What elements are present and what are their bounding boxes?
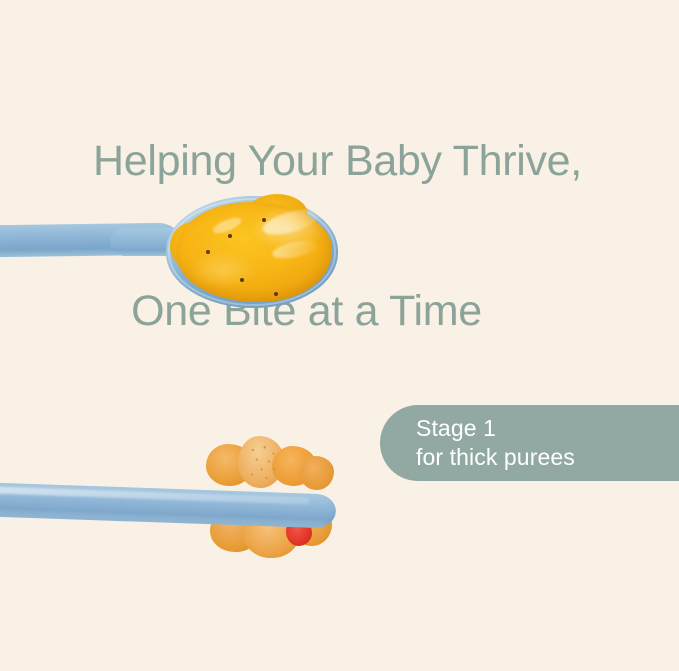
product-feature-graphic: Helping Your Baby Thrive, One Bite at a … bbox=[0, 0, 679, 671]
puree-seed bbox=[206, 250, 210, 254]
food-chunk bbox=[300, 456, 334, 490]
puree-seed bbox=[240, 278, 244, 282]
food-chunk-seeds bbox=[244, 442, 284, 486]
page-title-line-1: Helping Your Baby Thrive, bbox=[0, 136, 679, 186]
flat-spoon-with-chunks-illustration bbox=[0, 432, 380, 592]
puree-seed bbox=[274, 292, 278, 296]
stage-2-row: Stage 2 for semi-solid foods bbox=[0, 432, 679, 592]
puree-seed bbox=[228, 234, 232, 238]
puree-seed bbox=[262, 218, 266, 222]
spoon-with-puree-illustration bbox=[0, 180, 380, 340]
stage-1-row: Stage 1 for thick purees bbox=[0, 180, 679, 340]
